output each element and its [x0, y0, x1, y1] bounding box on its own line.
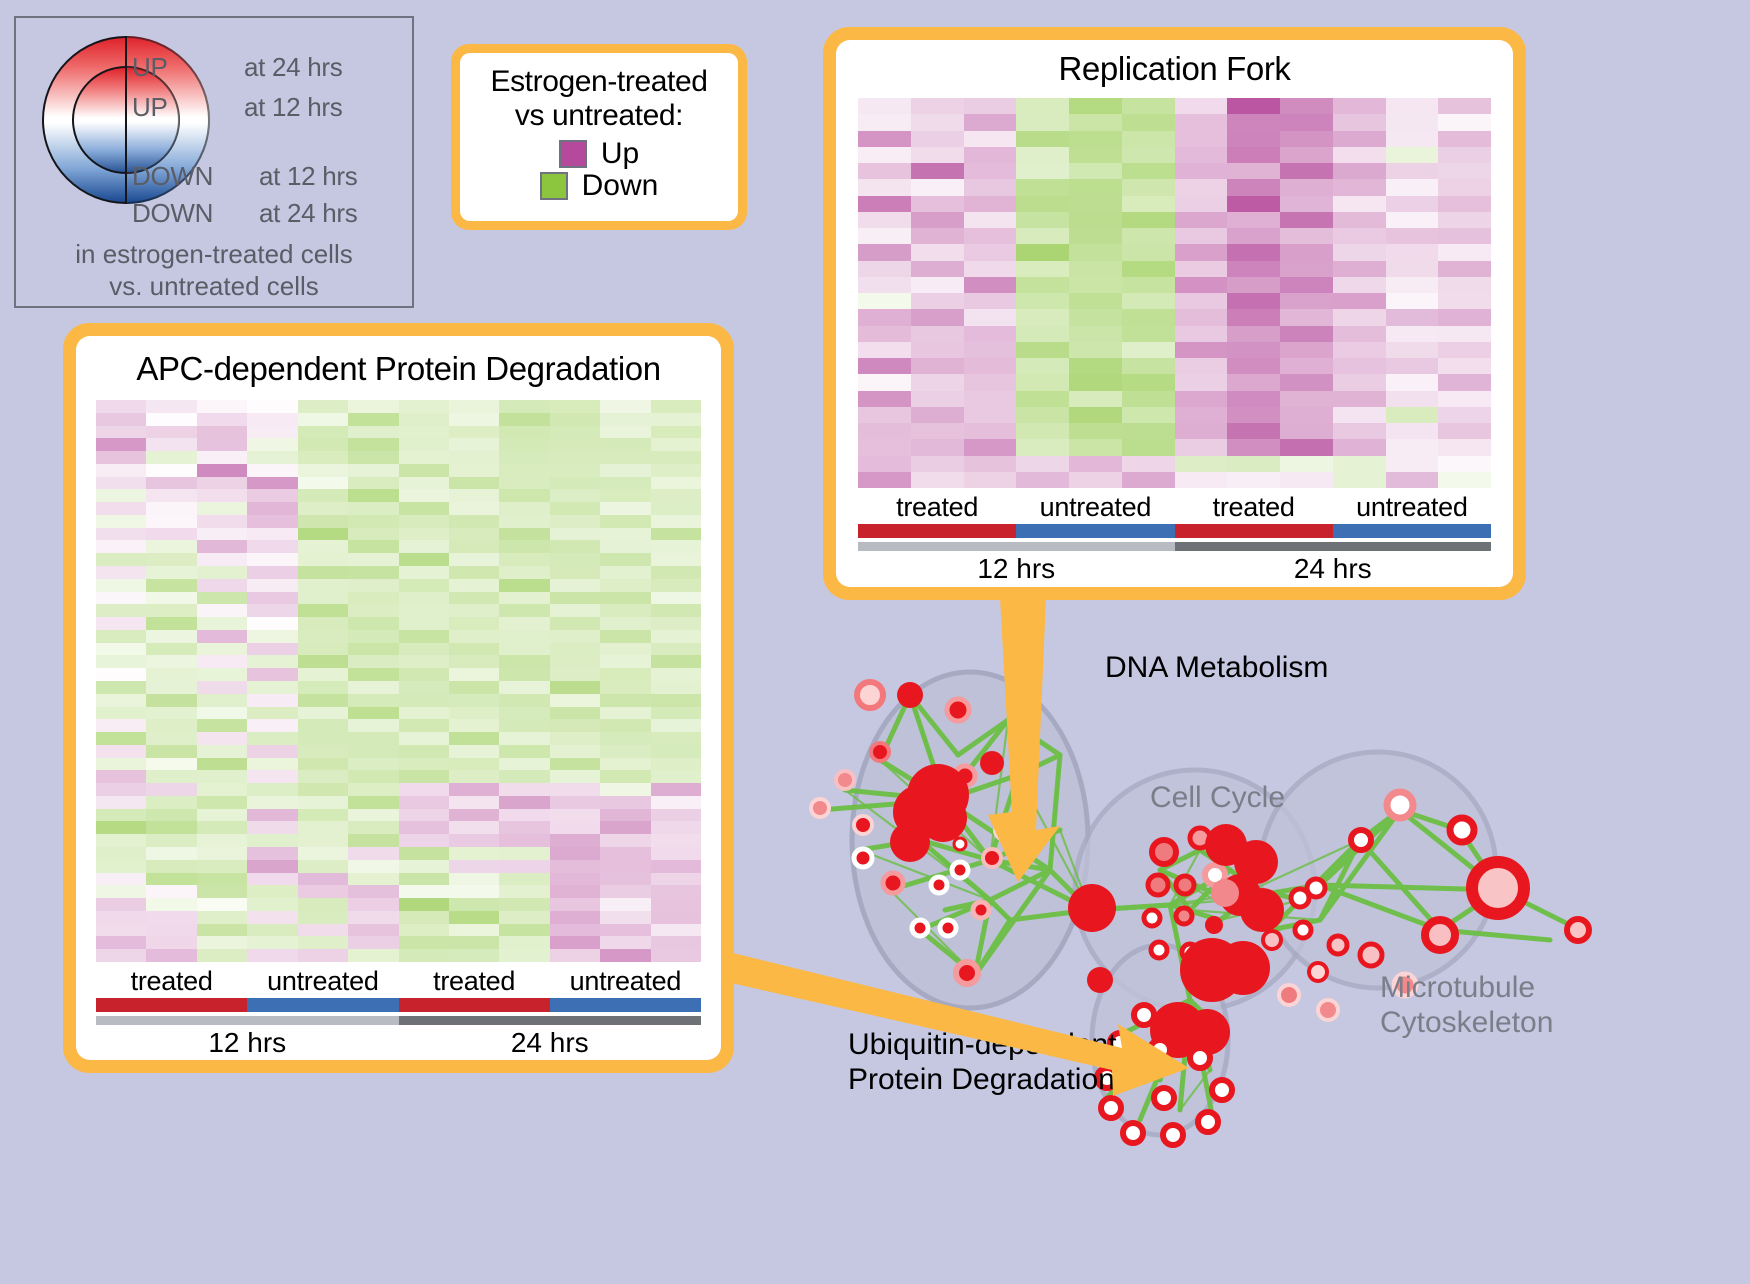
heatmap-cell [1227, 147, 1280, 163]
heatmap-cell [1333, 212, 1386, 228]
apc-degradation-panel: APC-dependent Protein Degradation treate… [63, 323, 734, 1073]
heatmap-cell [197, 936, 247, 949]
heatmap-cell [197, 949, 247, 962]
heatmap-cell [348, 758, 398, 771]
heatmap-cell [499, 898, 549, 911]
heatmap-cell [858, 98, 911, 114]
heatmap-cell [1333, 456, 1386, 472]
heatmap-cell [1333, 391, 1386, 407]
heatmap-cell [1175, 407, 1228, 423]
network-node [1101, 1098, 1121, 1118]
heatmap-cell [1438, 196, 1491, 212]
heatmap-cell [1333, 98, 1386, 114]
heatmap-cell [1122, 456, 1175, 472]
column-label-untreated-24: untreated [550, 966, 701, 997]
heatmap-cell [348, 796, 398, 809]
network-svg [760, 600, 1750, 1279]
heatmap-cell [146, 732, 196, 745]
heatmap-cell [197, 464, 247, 477]
column-label-untreated-24: untreated [1333, 492, 1491, 523]
heatmap-cell [1175, 163, 1228, 179]
network-node [1240, 888, 1284, 932]
heatmap-cell [348, 707, 398, 720]
network-node [980, 751, 1004, 775]
heatmap-cell [964, 374, 1017, 390]
column-label-untreated-12: untreated [1016, 492, 1174, 523]
heatmap-cell [399, 566, 449, 579]
heatmap-cell [449, 668, 499, 681]
heatmap-cell [247, 821, 297, 834]
heatmap-cell [550, 885, 600, 898]
heatmap-cell [858, 228, 911, 244]
heatmap-cell [1227, 293, 1280, 309]
replication-condition-bars [858, 524, 1491, 538]
heatmap-cell [96, 949, 146, 962]
cluster-label-microtubule-cytoskeleton: Microtubule Cytoskeleton [1380, 970, 1553, 1041]
heatmap-cell [399, 553, 449, 566]
heatmap-cell [1175, 293, 1228, 309]
heatmap-cell [1333, 309, 1386, 325]
heatmap-cell [499, 809, 549, 822]
network-node [1309, 963, 1327, 981]
color-key-rings [42, 36, 212, 221]
bar-untreated-24 [550, 998, 701, 1012]
heatmap-cell [1280, 456, 1333, 472]
network-node [1295, 922, 1311, 938]
heatmap-cell [858, 326, 911, 342]
heatmap-cell [964, 407, 1017, 423]
heatmap-cell [197, 655, 247, 668]
heatmap-cell [911, 244, 964, 260]
heatmap-cell [197, 438, 247, 451]
network-node [995, 820, 1015, 840]
heatmap-cell [96, 758, 146, 771]
legend-label-up: Up [601, 139, 639, 169]
heatmap-cell [1227, 456, 1280, 472]
heatmap-cell [1333, 342, 1386, 358]
heatmap-cell [146, 668, 196, 681]
heatmap-cell [197, 694, 247, 707]
heatmap-cell [1069, 261, 1122, 277]
heatmap-cell [146, 540, 196, 553]
heatmap-cell [348, 936, 398, 949]
heatmap-cell [96, 770, 146, 783]
heatmap-cell [600, 758, 650, 771]
heatmap-cell [1016, 358, 1069, 374]
heatmap-cell [1333, 374, 1386, 390]
heatmap-cell [197, 860, 247, 873]
heatmap-cell [96, 873, 146, 886]
heatmap-cell [399, 732, 449, 745]
heatmap-cell [651, 655, 701, 668]
heatmap-cell [197, 477, 247, 490]
cluster-label-ubiquitin-degradation: Ubiquitin-dependent Protein Degradation [848, 1027, 1117, 1098]
heatmap-cell [1122, 114, 1175, 130]
heatmap-cell [550, 809, 600, 822]
replication-time-bars [858, 542, 1491, 551]
heatmap-cell [449, 745, 499, 758]
heatmap-cell [399, 809, 449, 822]
cluster-label-cell-cycle: Cell Cycle [1150, 780, 1285, 815]
heatmap-cell [1227, 131, 1280, 147]
heatmap-cell [651, 604, 701, 617]
heatmap-cell [1333, 131, 1386, 147]
heatmap-cell [1438, 342, 1491, 358]
heatmap-cell [146, 758, 196, 771]
heatmap-cell [247, 809, 297, 822]
heatmap-cell [449, 719, 499, 732]
heatmap-cell [550, 770, 600, 783]
replication-column-labels: treated untreated treated untreated [858, 492, 1491, 523]
heatmap-cell [499, 783, 549, 796]
heatmap-cell [298, 515, 348, 528]
network-node [1176, 876, 1194, 894]
heatmap-cell [96, 885, 146, 898]
heatmap-cell [1122, 228, 1175, 244]
heatmap-cell [550, 592, 600, 605]
replication-time-labels: 12 hrs 24 hrs [858, 553, 1491, 585]
heatmap-cell [964, 131, 1017, 147]
heatmap-cell [499, 540, 549, 553]
network-node [1211, 879, 1239, 907]
heatmap-cell [651, 668, 701, 681]
heatmap-cell [1122, 423, 1175, 439]
heatmap-cell [1175, 244, 1228, 260]
heatmap-cell [96, 400, 146, 413]
heatmap-cell [1069, 277, 1122, 293]
heatmap-cell [197, 809, 247, 822]
heatmap-cell [1227, 277, 1280, 293]
heatmap-cell [1438, 98, 1491, 114]
heatmap-cell [298, 451, 348, 464]
heatmap-cell [600, 438, 650, 451]
heatmap-cell [550, 477, 600, 490]
heatmap-cell [449, 438, 499, 451]
heatmap-cell [651, 834, 701, 847]
heatmap-cell [197, 579, 247, 592]
heatmap-cell [499, 438, 549, 451]
heatmap-cell [146, 707, 196, 720]
heatmap-cell [1122, 244, 1175, 260]
heatmap-cell [1227, 358, 1280, 374]
heatmap-cell [449, 451, 499, 464]
heatmap-cell [1280, 374, 1333, 390]
heatmap-cell [348, 860, 398, 873]
heatmap-cell [1069, 212, 1122, 228]
heatmap-cell [499, 464, 549, 477]
heatmap-cell [399, 668, 449, 681]
heatmap-cell [651, 745, 701, 758]
heatmap-cell [399, 745, 449, 758]
heatmap-cell [399, 643, 449, 656]
heatmap-cell [1122, 293, 1175, 309]
heatmap-cell [96, 451, 146, 464]
heatmap-cell [1333, 472, 1386, 488]
network-node [1318, 1000, 1338, 1020]
heatmap-cell [348, 643, 398, 656]
heatmap-cell [197, 783, 247, 796]
heatmap-cell [146, 502, 196, 515]
down-swatch-icon [540, 172, 568, 200]
heatmap-cell [600, 949, 650, 962]
heatmap-cell [348, 783, 398, 796]
heatmap-cell [298, 885, 348, 898]
heatmap-cell [651, 515, 701, 528]
heatmap-cell [1386, 472, 1439, 488]
heatmap-cell [1016, 98, 1069, 114]
heatmap-cell [399, 489, 449, 502]
heatmap-cell [1227, 423, 1280, 439]
heatmap-cell [247, 707, 297, 720]
heatmap-cell [298, 732, 348, 745]
heatmap-cell [550, 502, 600, 515]
heatmap-cell [911, 374, 964, 390]
heatmap-cell [651, 783, 701, 796]
heatmap-cell [197, 732, 247, 745]
heatmap-cell [146, 873, 196, 886]
heatmap-cell [298, 426, 348, 439]
network-node [1198, 1112, 1218, 1132]
heatmap-cell [964, 196, 1017, 212]
network-node [897, 682, 923, 708]
bar-treated-12 [858, 524, 1016, 538]
heatmap-cell [96, 681, 146, 694]
bar-treated-12 [96, 998, 247, 1012]
heatmap-cell [1386, 196, 1439, 212]
heatmap-cell [1227, 439, 1280, 455]
heatmap-cell [247, 770, 297, 783]
heatmap-cell [298, 873, 348, 886]
heatmap-cell [550, 643, 600, 656]
replication-fork-title: Replication Fork [836, 40, 1513, 88]
heatmap-cell [96, 936, 146, 949]
heatmap-cell [298, 617, 348, 630]
heatmap-cell [858, 439, 911, 455]
heatmap-cell [1227, 114, 1280, 130]
network-node [836, 771, 854, 789]
heatmap-cell [600, 834, 650, 847]
heatmap-cell [247, 400, 297, 413]
heatmap-cell [399, 719, 449, 732]
heatmap-cell [1122, 342, 1175, 358]
network-node [890, 822, 930, 862]
heatmap-cell [1175, 456, 1228, 472]
heatmap-cell [399, 464, 449, 477]
heatmap-cell [348, 413, 398, 426]
heatmap-cell [247, 438, 297, 451]
heatmap-cell [449, 553, 499, 566]
heatmap-cell [399, 885, 449, 898]
heatmap-cell [197, 617, 247, 630]
heatmap-cell [1280, 358, 1333, 374]
heatmap-cell [197, 911, 247, 924]
heatmap-cell [964, 456, 1017, 472]
heatmap-cell [499, 400, 549, 413]
heatmap-cell [1227, 391, 1280, 407]
heatmap-cell [399, 617, 449, 630]
heatmap-cell [449, 579, 499, 592]
heatmap-cell [348, 949, 398, 962]
replication-axis: treated untreated treated untreated 12 h [858, 492, 1491, 585]
heatmap-cell [197, 821, 247, 834]
heatmap-cell [1280, 439, 1333, 455]
heatmap-cell [651, 796, 701, 809]
replication-fork-heatmap [858, 98, 1491, 488]
heatmap-cell [247, 796, 297, 809]
heatmap-cell [449, 400, 499, 413]
heatmap-cell [247, 655, 297, 668]
network-node [1329, 936, 1347, 954]
heatmap-cell [550, 783, 600, 796]
heatmap-cell [499, 528, 549, 541]
heatmap-cell [298, 924, 348, 937]
heatmap-cell [1333, 293, 1386, 309]
heatmap-cell [1069, 131, 1122, 147]
heatmap-cell [964, 358, 1017, 374]
heatmap-cell [1386, 179, 1439, 195]
heatmap-cell [499, 426, 549, 439]
network-node [1134, 1005, 1154, 1025]
heatmap-cell [348, 477, 398, 490]
heatmap-cell [651, 770, 701, 783]
heatmap-cell [1333, 261, 1386, 277]
heatmap-cell [550, 681, 600, 694]
heatmap-cell [247, 924, 297, 937]
heatmap-cell [550, 949, 600, 962]
heatmap-cell [146, 694, 196, 707]
heatmap-cell [298, 770, 348, 783]
heatmap-cell [550, 413, 600, 426]
heatmap-cell [550, 655, 600, 668]
heatmap-cell [858, 147, 911, 163]
heatmap-cell [399, 911, 449, 924]
heatmap-cell [1333, 163, 1386, 179]
heatmap-cell [348, 681, 398, 694]
heatmap-cell [858, 293, 911, 309]
heatmap-cell [247, 617, 297, 630]
heatmap-cell [197, 847, 247, 860]
bar-treated-24 [399, 998, 550, 1012]
heatmap-cell [1122, 196, 1175, 212]
key-label-up-12: UP [132, 92, 168, 123]
heatmap-cell [1333, 326, 1386, 342]
heatmap-cell [911, 179, 964, 195]
heatmap-cell [964, 179, 1017, 195]
heatmap-cell [1175, 131, 1228, 147]
heatmap-cell [651, 617, 701, 630]
heatmap-cell [1175, 228, 1228, 244]
heatmap-cell [96, 643, 146, 656]
apc-column-labels: treated untreated treated untreated [96, 966, 701, 997]
heatmap-cell [399, 579, 449, 592]
heatmap-cell [96, 477, 146, 490]
network-node [1425, 920, 1455, 950]
heatmap-cell [911, 114, 964, 130]
heatmap-cell [651, 809, 701, 822]
heatmap-cell [651, 821, 701, 834]
heatmap-cell [146, 477, 196, 490]
heatmap-cell [499, 834, 549, 847]
heatmap-cell [1438, 147, 1491, 163]
heatmap-cell [911, 407, 964, 423]
heatmap-cell [1122, 261, 1175, 277]
heatmap-cell [1280, 212, 1333, 228]
heatmap-cell [348, 451, 398, 464]
heatmap-cell [651, 911, 701, 924]
heatmap-cell [1438, 261, 1491, 277]
heatmap-cell [348, 426, 398, 439]
heatmap-cell [1280, 309, 1333, 325]
heatmap-cell [1386, 147, 1439, 163]
heatmap-cell [449, 847, 499, 860]
heatmap-cell [146, 936, 196, 949]
heatmap-cell [499, 732, 549, 745]
heatmap-cell [1122, 147, 1175, 163]
heatmap-cell [146, 860, 196, 873]
heatmap-cell [858, 391, 911, 407]
heatmap-cell [1069, 244, 1122, 260]
network-node [854, 816, 872, 834]
heatmap-cell [348, 617, 398, 630]
heatmap-cell [197, 489, 247, 502]
network-node [1150, 1040, 1170, 1060]
heatmap-cell [449, 936, 499, 949]
heatmap-cell [399, 438, 449, 451]
network-node [1450, 818, 1474, 842]
heatmap-cell [499, 489, 549, 502]
heatmap-cell [1386, 212, 1439, 228]
heatmap-cell [550, 732, 600, 745]
heatmap-cell [911, 196, 964, 212]
heatmap-cell [146, 413, 196, 426]
heatmap-cell [911, 163, 964, 179]
heatmap-cell [1016, 342, 1069, 358]
heatmap-cell [247, 860, 297, 873]
heatmap-cell [449, 898, 499, 911]
apc-panel-title: APC-dependent Protein Degradation [76, 336, 721, 388]
heatmap-cell [1069, 391, 1122, 407]
heatmap-cell [247, 643, 297, 656]
heatmap-cell [1333, 228, 1386, 244]
bar-untreated-12 [1016, 524, 1174, 538]
network-node [1087, 967, 1113, 993]
heatmap-cell [550, 464, 600, 477]
heatmap-cell [146, 438, 196, 451]
heatmap-cell [146, 464, 196, 477]
heatmap-cell [1438, 131, 1491, 147]
heatmap-cell [1438, 358, 1491, 374]
heatmap-cell [1386, 114, 1439, 130]
heatmap-cell [96, 617, 146, 630]
heatmap-cell [651, 426, 701, 439]
heatmap-cell [499, 668, 549, 681]
heatmap-cell [1227, 163, 1280, 179]
heatmap-cell [399, 898, 449, 911]
network-node [1279, 985, 1299, 1005]
heatmap-cell [1122, 309, 1175, 325]
heatmap-cell [298, 540, 348, 553]
heatmap-cell [600, 707, 650, 720]
heatmap-cell [1227, 309, 1280, 325]
heatmap-cell [96, 911, 146, 924]
heatmap-cell [146, 809, 196, 822]
heatmap-cell [449, 528, 499, 541]
heatmap-cell [449, 426, 499, 439]
heatmap-cell [1438, 423, 1491, 439]
key-label-up-24: UP [132, 52, 168, 83]
heatmap-cell [651, 438, 701, 451]
heatmap-cell [499, 477, 549, 490]
